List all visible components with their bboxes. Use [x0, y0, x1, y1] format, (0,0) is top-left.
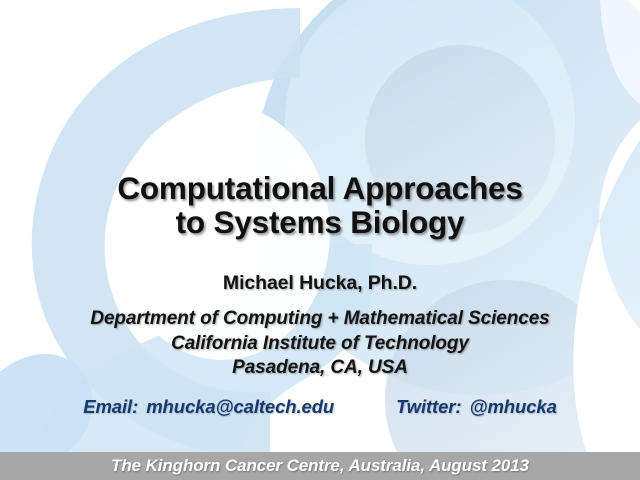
footer-banner: The Kinghorn Cancer Centre, Australia, A…: [0, 452, 640, 480]
title-slide: Computational Approaches to Systems Biol…: [0, 0, 640, 480]
email-contact: Email: mhucka@caltech.edu: [83, 396, 334, 418]
twitter-label: Twitter:: [396, 396, 461, 417]
email-label: Email:: [83, 396, 138, 417]
affiliation-line-institution: California Institute of Technology: [0, 332, 640, 357]
email-address[interactable]: mhucka@caltech.edu: [146, 396, 334, 417]
slide-content: Computational Approaches to Systems Biol…: [0, 0, 640, 480]
title-line-1: Computational Approaches: [0, 171, 640, 205]
affiliation-block: Department of Computing + Mathematical S…: [0, 307, 640, 381]
contact-row: Email: mhucka@caltech.edu Twitter: @mhuc…: [0, 396, 640, 418]
affiliation-line-location: Pasadena, CA, USA: [0, 356, 640, 381]
affiliation-line-department: Department of Computing + Mathematical S…: [0, 307, 640, 332]
title-line-2: to Systems Biology: [0, 205, 640, 239]
page-title: Computational Approaches to Systems Biol…: [0, 171, 640, 239]
footer-venue-text: The Kinghorn Cancer Centre, Australia, A…: [111, 456, 529, 476]
presenter-name: Michael Hucka, Ph.D.: [0, 272, 640, 295]
twitter-handle[interactable]: @mhucka: [470, 396, 557, 417]
twitter-contact: Twitter: @mhucka: [396, 396, 557, 418]
